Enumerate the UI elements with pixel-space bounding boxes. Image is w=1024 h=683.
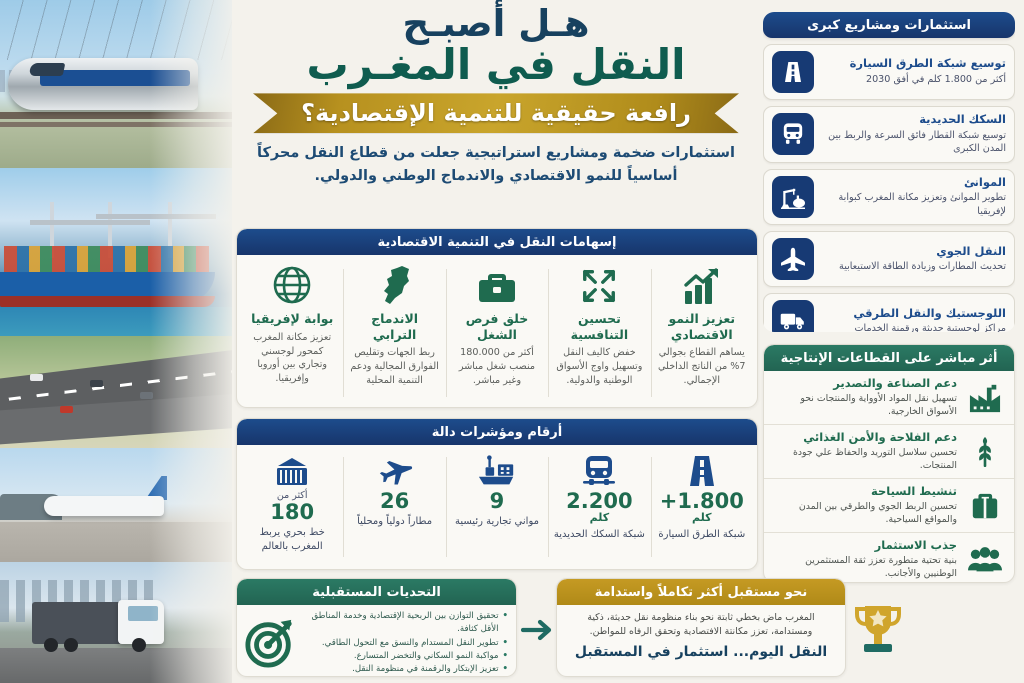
headline-block: هـل أصبـح النقل في المغـرب رافعة حقيقية … bbox=[236, 4, 756, 187]
target-arrow-icon bbox=[241, 617, 299, 669]
contribution-title: تحسين التنافسية bbox=[553, 311, 645, 342]
figure-item: أكثر من 180 خط بحري يربط المغرب بالعالم bbox=[241, 453, 343, 561]
contribution-item: بوابة لإفريقيا تعزيز مكانة المغرب كمحور … bbox=[241, 263, 343, 403]
challenge-item: •مواكبة النمو السكاني والتخضر المتسارع. bbox=[305, 650, 508, 663]
photo-freight-truck bbox=[0, 562, 232, 683]
figure-label: شبكة السكك الحديدية bbox=[551, 528, 647, 542]
briefcase-icon bbox=[451, 263, 543, 305]
highway-badge-icon bbox=[772, 51, 814, 93]
investment-card-desc: مراكز لوجستية حديثة ورقمنة الخدمات bbox=[821, 322, 1006, 332]
vehicle bbox=[60, 406, 73, 413]
vehicle bbox=[30, 374, 43, 381]
sector-title: جذب الاستثمار bbox=[771, 539, 957, 553]
plane-fuselage bbox=[44, 496, 164, 516]
contribution-item: الاندماج الترابي ربط الجهات وتقليص الفوا… bbox=[343, 263, 445, 403]
investment-card-title: توسيع شبكة الطرق السيارة bbox=[821, 57, 1006, 71]
challenge-item: •تعزيز الإبتكار والرقمنة في منظومة النقل… bbox=[305, 663, 508, 676]
ribbon-banner: رافعة حقيقية للتنمية الإقتصادية؟ bbox=[253, 93, 739, 133]
figure-item: 2.200 كلم شبكة السكك الحديدية bbox=[548, 453, 650, 561]
stacked-containers bbox=[4, 246, 209, 274]
photo-strip bbox=[0, 0, 232, 683]
investment-card-title: اللوجستيك والنقل الطرقي bbox=[821, 307, 1006, 321]
contribution-item: تحسين التنافسية خفض كاليف النقل وتسهيل و… bbox=[548, 263, 650, 403]
contribution-title: خلق فرص الشغل bbox=[451, 311, 543, 342]
future-panel: نحو مستقبل أكثر تكاملاً واستدامة المغرب … bbox=[556, 578, 846, 677]
figure-item: 9 مواني تجارية رئيسية bbox=[446, 453, 548, 561]
contributions-panel: إسهامات النقل في التنمية الاقتصادية تعزي… bbox=[236, 228, 758, 408]
figure-label: مطاراً دولياً ومحلياً bbox=[346, 515, 442, 529]
truck-wheel bbox=[64, 638, 78, 652]
contribution-desc: تعزيز مكانة المغرب كمحور لوجسني وتجاري ب… bbox=[246, 331, 338, 387]
truck-road bbox=[0, 648, 232, 683]
investment-card[interactable]: توسيع شبكة الطرق السيارة أكثر من 1.800 ك… bbox=[763, 44, 1015, 100]
figure-value: 180 bbox=[244, 501, 340, 523]
contribution-item: خلق فرص الشغل أكثر من 180.000 منصب شغل م… bbox=[446, 263, 548, 403]
sector-row[interactable]: دعم الصناعة والتصدير تسهيل نقل المواد ال… bbox=[764, 371, 1014, 424]
future-slogan: النقل اليوم... استثمار في المستقبل bbox=[566, 644, 836, 660]
figures-title: أرقام ومؤشرات دالة bbox=[237, 419, 757, 445]
figure-label: مواني تجارية رئيسية bbox=[449, 515, 545, 529]
figure-value: 9 bbox=[449, 490, 545, 512]
contributions-title: إسهامات النقل في التنمية الاقتصادية bbox=[237, 229, 757, 255]
suitcase-icon bbox=[965, 491, 1005, 521]
truck-wheel bbox=[132, 638, 146, 652]
challenges-body: •تحقيق التوازن بين الربحية الإقتصادية وخ… bbox=[237, 605, 516, 677]
truck-trailer bbox=[32, 602, 122, 644]
figure-label: خط بحري يربط المغرب بالعالم bbox=[244, 526, 340, 554]
vehicle bbox=[90, 380, 103, 387]
investment-card-title: السكك الحديدية bbox=[821, 113, 1006, 127]
intro-paragraph: استثمارات ضخمة ومشاريع استراتيجية جعلت م… bbox=[236, 142, 756, 187]
figure-item: 1.800+ كلم شبكة الطرق السيارة bbox=[651, 453, 753, 561]
contribution-title: الاندماج الترابي bbox=[348, 311, 440, 342]
contribution-title: بوابة لإفريقيا bbox=[246, 311, 338, 327]
photo-airport-plane bbox=[0, 448, 232, 572]
investment-card-title: النقل الجوي bbox=[821, 245, 1006, 259]
photo-highway bbox=[0, 336, 232, 456]
investments-title: استثمارات ومشاريع كبرى bbox=[763, 12, 1015, 38]
figure-value: 1.800+ bbox=[654, 490, 750, 512]
crane-arm bbox=[96, 214, 216, 219]
headline-line-2: النقل في المغـرب bbox=[236, 42, 756, 87]
figure-value: 26 bbox=[346, 490, 442, 512]
contribution-desc: أكثر من 180.000 منصب شغل مباشر وغير مباش… bbox=[451, 346, 543, 388]
sector-row[interactable]: تنشيط السياحة تحسين الربط الجوي والطرقي … bbox=[764, 478, 1014, 532]
sector-title: دعم الفلاحة والأمن الغذائي bbox=[771, 431, 957, 445]
challenges-panel: التحديات المستقبلية •تحقيق التوازن بين ا… bbox=[236, 578, 517, 677]
photo-container-port bbox=[0, 168, 232, 343]
investment-card[interactable]: اللوجستيك والنقل الطرقي مراكز لوجستية حد… bbox=[763, 293, 1015, 332]
contribution-item: تعزيز النمو الاقتصادي يساهم القطاع بجوال… bbox=[651, 263, 753, 403]
figures-row: 1.800+ كلم شبكة الطرق السيارة 2.200 كلم bbox=[237, 445, 757, 569]
port-crane-badge-icon bbox=[772, 176, 814, 218]
challenges-title: التحديات المستقبلية bbox=[237, 579, 516, 605]
investment-card[interactable]: السكك الحديدية توسيع شبكة القطار فائق ال… bbox=[763, 106, 1015, 163]
trophy-icon bbox=[850, 600, 906, 660]
sector-desc: تسهيل نقل المواد الأوواية والمنتجات نحو … bbox=[771, 392, 957, 418]
catenary-wires bbox=[0, 0, 232, 60]
sector-row[interactable]: جذب الاستثمار بنية تحتية متطورة تعزز ثقة… bbox=[764, 532, 1014, 583]
challenges-list: •تحقيق التوازن بين الربحية الإقتصادية وخ… bbox=[305, 610, 508, 677]
investment-card-desc: تحديث المطارات وزيادة الطاقة الاستيعابية bbox=[821, 260, 1006, 273]
factory-icon bbox=[965, 383, 1005, 413]
globe-icon bbox=[246, 263, 338, 305]
investment-card[interactable]: الموانئ تطوير الموانئ وتعزيز مكانة المغر… bbox=[763, 169, 1015, 226]
train-badge-icon bbox=[772, 113, 814, 155]
highway-icon bbox=[654, 453, 750, 487]
contribution-desc: ربط الجهات وتقليص الفوارق المجالية ودعم … bbox=[348, 346, 440, 388]
wheat-icon bbox=[965, 436, 1005, 468]
truck-wheel bbox=[44, 638, 58, 652]
morocco-map-icon bbox=[348, 263, 440, 305]
crane-arm bbox=[30, 220, 150, 225]
truck-windshield bbox=[128, 606, 158, 621]
challenge-item: •تطوير النقل المستدام والنسق مع التحول ا… bbox=[305, 637, 508, 650]
infographic-canvas: هـل أصبـح النقل في المغـرب رافعة حقيقية … bbox=[0, 0, 1024, 683]
investment-card-desc: تطوير الموانئ وتعزيز مكانة المغرب كبوابة… bbox=[821, 191, 1006, 218]
investment-card[interactable]: النقل الجوي تحديث المطارات وزيادة الطاقة… bbox=[763, 231, 1015, 287]
future-title: نحو مستقبل أكثر تكاملاً واستدامة bbox=[557, 579, 845, 605]
train-windshield bbox=[29, 63, 66, 76]
investment-card-desc: أكثر من 1.800 كلم في أفق 2030 bbox=[821, 73, 1006, 86]
airplane-icon bbox=[346, 453, 442, 487]
sector-desc: تحسين سلاسل التوريد والحفاظ علي جودة الم… bbox=[771, 446, 957, 472]
sector-row[interactable]: دعم الفلاحة والأمن الغذائي تحسين سلاسل ا… bbox=[764, 424, 1014, 478]
ribbon-text: رافعة حقيقية للتنمية الإقتصادية؟ bbox=[301, 99, 691, 127]
sector-desc: بنية تحتية متطورة تعزز ثقة المستثمرين ال… bbox=[771, 554, 957, 580]
rail-track bbox=[0, 112, 232, 119]
flow-arrow-icon bbox=[521, 618, 555, 642]
figure-unit: كلم bbox=[551, 512, 647, 525]
challenge-item: •تحقيق التوازن بين الربحية الإقتصادية وخ… bbox=[305, 610, 508, 637]
truck-badge-icon bbox=[772, 300, 814, 332]
investment-card-desc: توسيع شبكة القطار فائق السرعة والربط بين… bbox=[821, 129, 1006, 156]
sector-title: تنشيط السياحة bbox=[771, 485, 957, 499]
photo-high-speed-train bbox=[0, 0, 232, 175]
figure-value: 2.200 bbox=[551, 490, 647, 512]
expand-arrows-icon bbox=[553, 263, 645, 305]
headline-line-1: هـل أصبـح bbox=[236, 4, 756, 44]
sector-title: دعم الصناعة والتصدير bbox=[771, 377, 957, 391]
figure-item: 26 مطاراً دولياً ومحلياً bbox=[343, 453, 445, 561]
figures-panel: أرقام ومؤشرات دالة 1.800+ كلم شبكة الطرق… bbox=[236, 418, 758, 570]
ship-waterline bbox=[0, 296, 215, 307]
container-icon bbox=[244, 453, 340, 487]
cargo-ship-icon bbox=[449, 453, 545, 487]
figure-unit: كلم bbox=[654, 512, 750, 525]
growth-chart-icon bbox=[656, 263, 748, 305]
sector-desc: تحسين الربط الجوي والطرقي بين المدن والم… bbox=[771, 500, 957, 526]
contribution-desc: يساهم القطاع بجوالي 7% من الناتج الداخلي… bbox=[656, 346, 748, 388]
train-icon bbox=[551, 453, 647, 487]
people-group-icon bbox=[965, 547, 1005, 573]
future-paragraph: المغرب ماض بخطي ثابتة نحو بناء منظومة نق… bbox=[566, 611, 836, 639]
vehicle bbox=[140, 392, 153, 399]
sectors-title: أثر مباشر على القطاعات الإنتاجية bbox=[764, 345, 1014, 371]
figure-label: شبكة الطرق السيارة bbox=[654, 528, 750, 542]
contribution-title: تعزيز النمو الاقتصادي bbox=[656, 311, 748, 342]
contribution-desc: خفض كاليف النقل وتسهيل واوج الأسواق الوط… bbox=[553, 346, 645, 388]
investments-panel: استثمارات ومشاريع كبرى توسيع شبكة الطرق … bbox=[763, 12, 1015, 332]
investment-card-title: الموانئ bbox=[821, 176, 1006, 190]
contributions-row: تعزيز النمو الاقتصادي يساهم القطاع بجوال… bbox=[237, 255, 757, 407]
sectors-panel: أثر مباشر على القطاعات الإنتاجية دعم الص… bbox=[763, 344, 1015, 583]
future-body: المغرب ماض بخطي ثابتة نحو بناء منظومة نق… bbox=[557, 605, 845, 666]
airplane-badge-icon bbox=[772, 238, 814, 280]
rail-track-secondary bbox=[0, 122, 232, 127]
